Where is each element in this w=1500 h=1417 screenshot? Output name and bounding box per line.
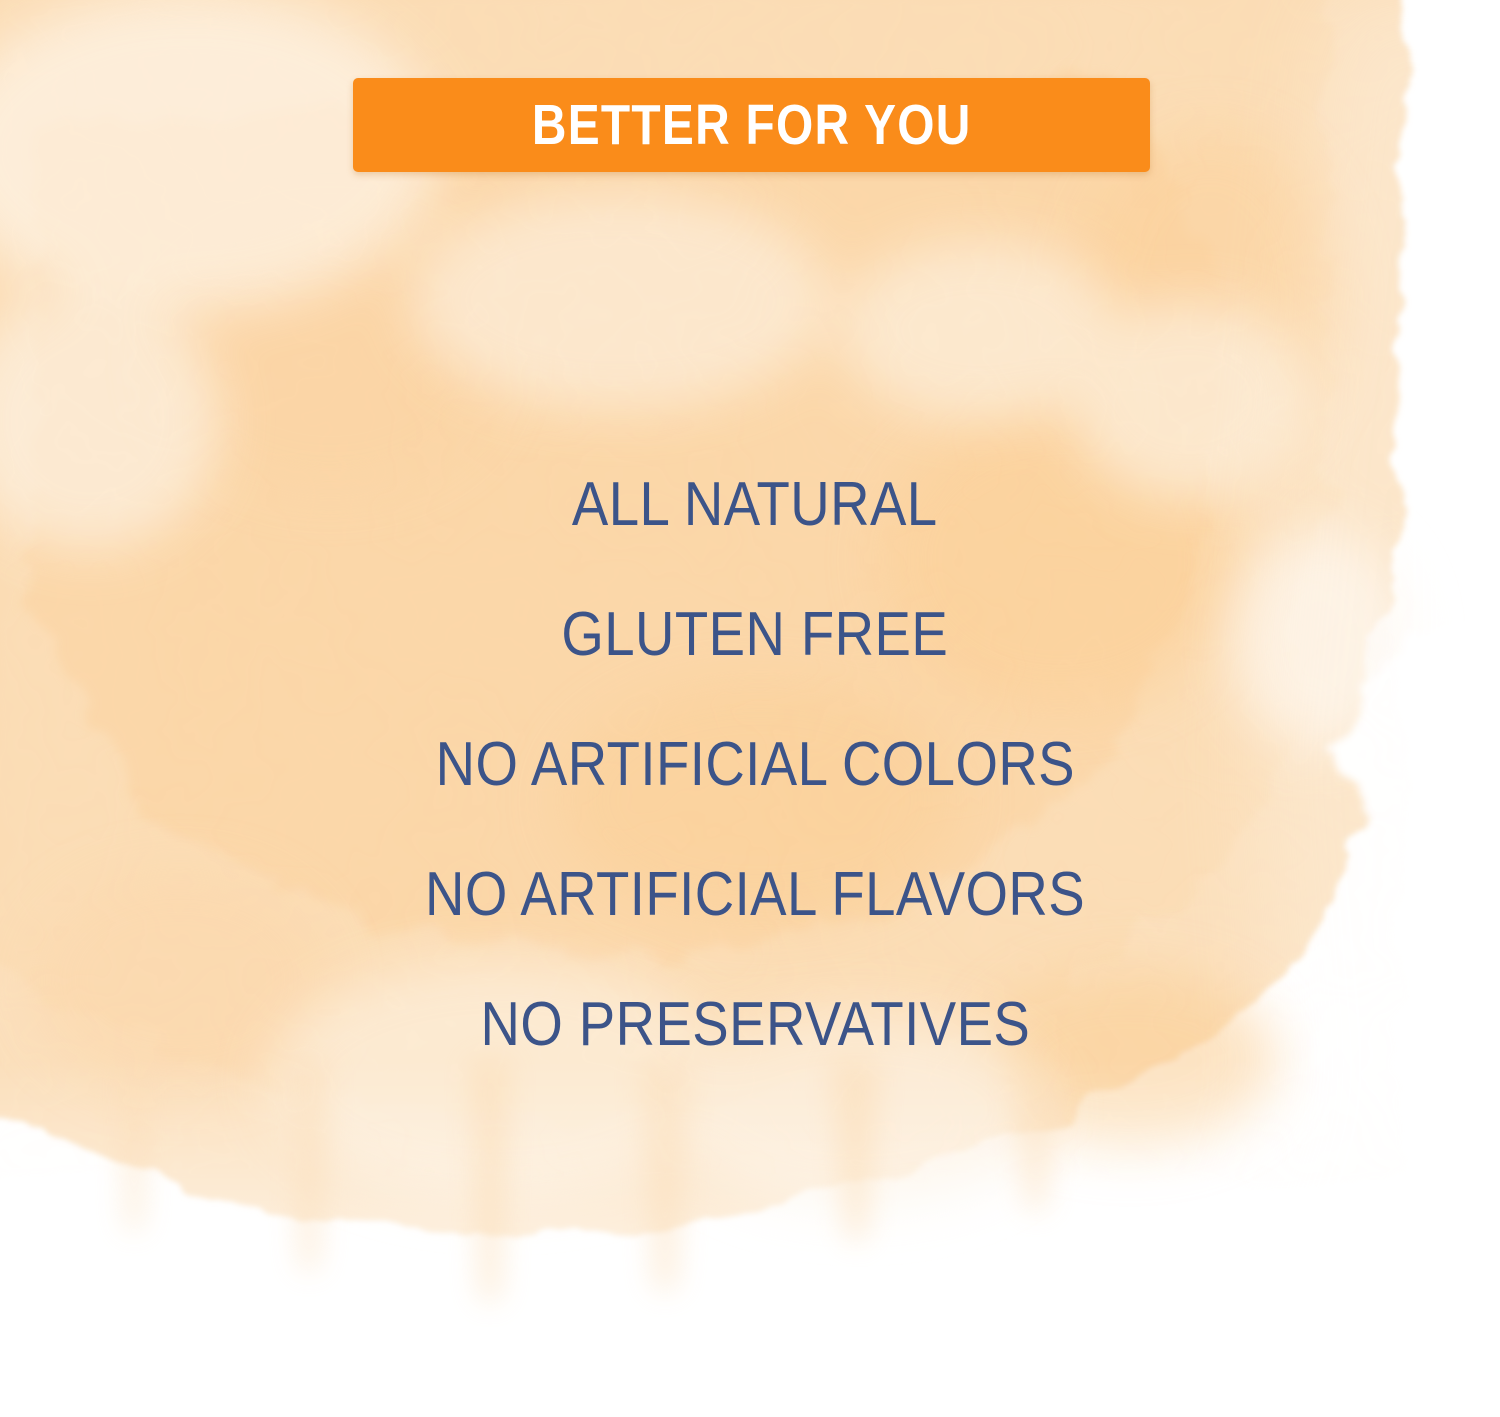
banner-label: BETTER FOR YOU [532,97,972,154]
claim-item: ALL NATURAL [572,440,938,570]
poster-canvas: BETTER FOR YOU ALL NATURAL GLUTEN FREE N… [0,0,1500,1417]
claim-item: NO PRESERVATIVES [480,960,1030,1090]
claim-item: GLUTEN FREE [562,570,949,700]
claim-item: NO ARTIFICIAL FLAVORS [425,830,1085,960]
claims-list: ALL NATURAL GLUTEN FREE NO ARTIFICIAL CO… [0,440,1500,1090]
claim-item: NO ARTIFICIAL COLORS [435,700,1074,830]
better-for-you-banner: BETTER FOR YOU [353,78,1150,172]
